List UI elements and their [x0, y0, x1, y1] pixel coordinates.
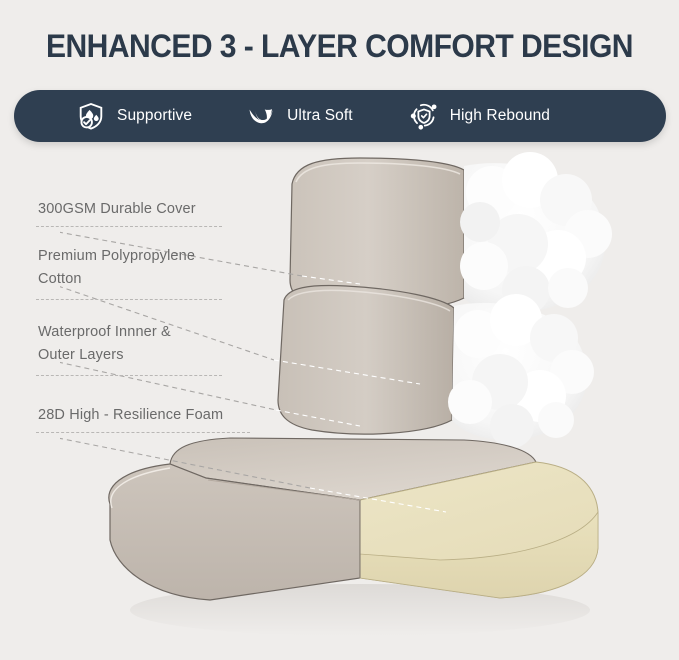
leader-line-waterproof: [60, 362, 276, 410]
annotation-waterproof-line2: Outer Layers: [38, 344, 171, 367]
annotation-label-cotton: Premium Polypropylene Cotton: [38, 245, 195, 291]
feature-item-supportive[interactable]: Supportive: [76, 90, 192, 142]
feature-bar: Supportive Ultra Soft High Rebound: [14, 90, 666, 142]
middle-cushion: [278, 286, 594, 448]
shield-molecule-icon: [409, 101, 439, 131]
feather-icon: [246, 101, 276, 131]
feature-label-supportive: Supportive: [117, 107, 192, 125]
annotation-cotton-line2: Cotton: [38, 268, 195, 291]
annotation-label-waterproof: Waterproof Innner & Outer Layers: [38, 321, 171, 367]
cotton-fill-lower: [448, 294, 594, 448]
page-title: ENHANCED 3 - LAYER COMFORT DESIGN: [20, 28, 658, 65]
feature-label-ultra-soft: Ultra Soft: [287, 107, 353, 125]
feature-label-high-rebound: High Rebound: [450, 107, 550, 125]
annotation-cotton-line1: Premium Polypropylene: [38, 248, 195, 264]
annotation-waterproof-line1: Waterproof Innner &: [38, 324, 171, 340]
cotton-fill-upper: [460, 152, 612, 314]
product-illustration: [60, 148, 660, 648]
annotation-cover-line1: 300GSM Durable Cover: [38, 201, 196, 217]
feature-item-high-rebound[interactable]: High Rebound: [409, 90, 550, 142]
annotation-label-cover: 300GSM Durable Cover: [38, 198, 196, 221]
annotation-foam-line1: 28D High - Resilience Foam: [38, 407, 223, 423]
shield-droplet-check-icon: [76, 101, 106, 131]
feature-item-ultra-soft[interactable]: Ultra Soft: [246, 90, 353, 142]
annotation-label-foam: 28D High - Resilience Foam: [38, 404, 223, 427]
